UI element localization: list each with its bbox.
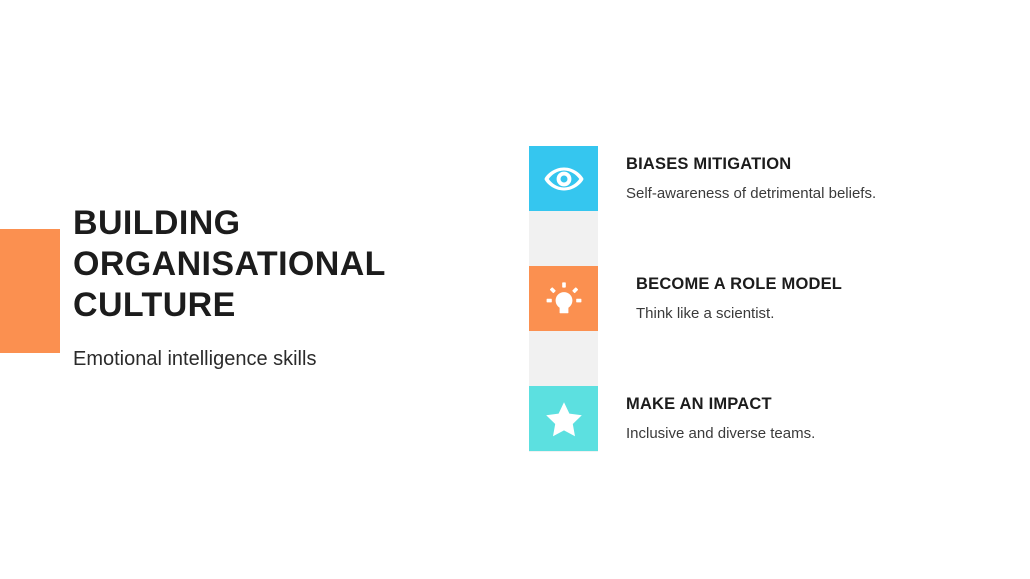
accent-bar bbox=[0, 229, 60, 353]
feature-title: BECOME A ROLE MODEL bbox=[636, 274, 996, 294]
feature-text-2: BECOME A ROLE MODEL Think like a scienti… bbox=[636, 274, 996, 323]
list-item[interactable]: BIASES MITIGATION Self-awareness of detr… bbox=[529, 146, 989, 210]
page-title: BUILDING ORGANISATIONAL CULTURE bbox=[73, 203, 493, 326]
page-title-line-3: CULTURE bbox=[73, 286, 236, 324]
page-title-line-2: ORGANISATIONAL bbox=[73, 245, 386, 283]
feature-title: BIASES MITIGATION bbox=[626, 154, 986, 174]
slide-canvas: BUILDING ORGANISATIONAL CULTURE Emotiona… bbox=[0, 0, 1030, 579]
lightbulb-icon bbox=[545, 280, 583, 318]
feature-icon-tile-2 bbox=[529, 266, 598, 331]
feature-icon-tile-1 bbox=[529, 146, 598, 211]
star-icon bbox=[545, 401, 583, 437]
list-item[interactable]: BECOME A ROLE MODEL Think like a scienti… bbox=[529, 266, 989, 330]
list-item[interactable]: MAKE AN IMPACT Inclusive and diverse tea… bbox=[529, 386, 989, 450]
feature-description: Think like a scientist. bbox=[636, 294, 996, 323]
page-title-line-1: BUILDING bbox=[73, 204, 241, 242]
headline-block: BUILDING ORGANISATIONAL CULTURE Emotiona… bbox=[73, 203, 493, 372]
feature-icon-tile-3 bbox=[529, 386, 598, 451]
eye-icon bbox=[544, 166, 584, 192]
feature-text-3: MAKE AN IMPACT Inclusive and diverse tea… bbox=[626, 394, 986, 443]
page-subtitle: Emotional intelligence skills bbox=[73, 326, 493, 372]
feature-description: Self-awareness of detrimental beliefs. bbox=[626, 174, 986, 203]
feature-text-1: BIASES MITIGATION Self-awareness of detr… bbox=[626, 154, 986, 203]
feature-description: Inclusive and diverse teams. bbox=[626, 414, 986, 443]
feature-title: MAKE AN IMPACT bbox=[626, 394, 986, 414]
